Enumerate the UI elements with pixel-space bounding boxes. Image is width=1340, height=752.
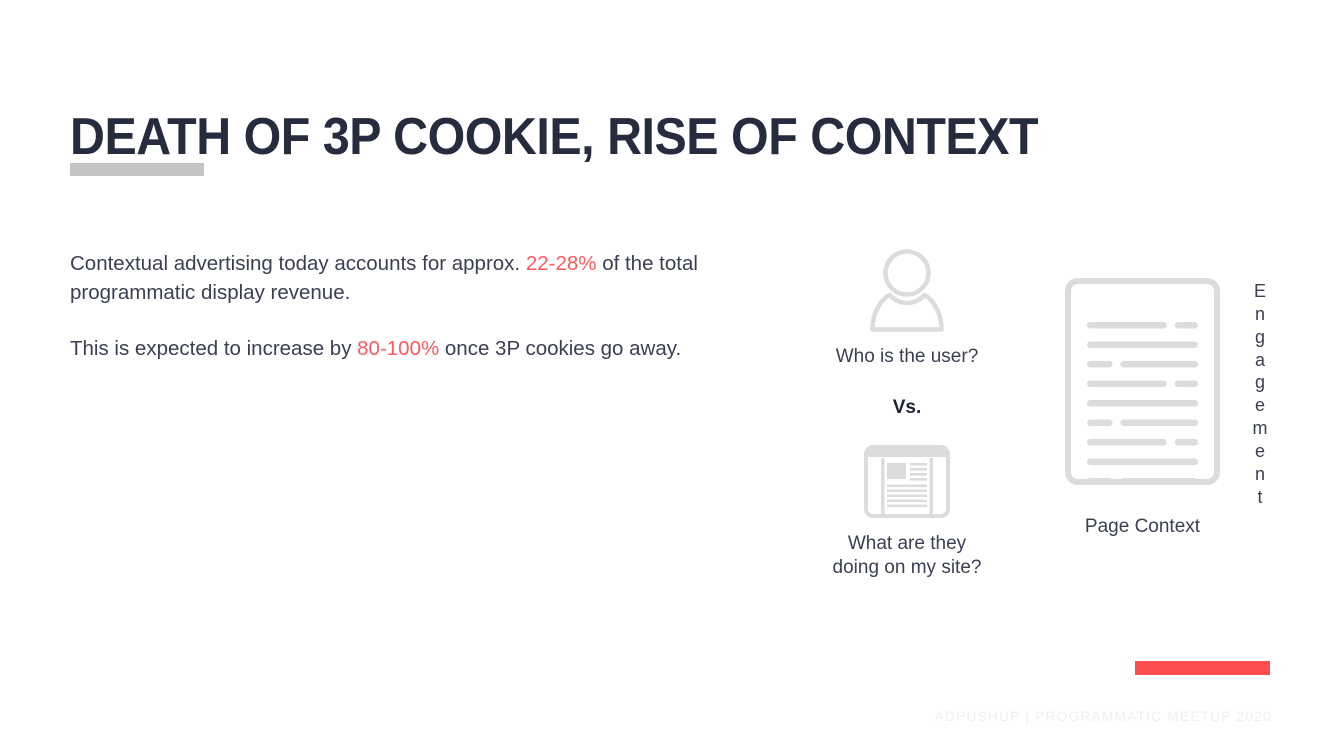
engagement-letter: a xyxy=(1250,349,1270,372)
body-copy: Contextual advertising today accounts fo… xyxy=(70,249,760,363)
document-text-bar xyxy=(1087,439,1167,446)
footer-text: ADPUSHUP | PROGRAMMATIC MEETUP 2020 xyxy=(935,709,1272,724)
content-caption-line-2: doing on my site? xyxy=(806,556,1008,580)
engagement-vertical-label: Engagement xyxy=(1250,280,1270,509)
body-paragraph-2: This is expected to increase by 80-100% … xyxy=(70,334,760,363)
person-icon xyxy=(861,248,953,332)
document-text-bar xyxy=(1087,400,1198,407)
document-text-bar xyxy=(1175,439,1198,446)
document-wrapper: Page Context xyxy=(1065,278,1220,538)
slide-canvas: DEATH OF 3P COOKIE, RISE OF CONTEXT Cont… xyxy=(0,0,1340,752)
paragraph-1-highlight: 22-28% xyxy=(526,252,597,275)
vs-label: Vs. xyxy=(806,397,1008,419)
engagement-letter: E xyxy=(1250,280,1270,303)
engagement-letter: e xyxy=(1250,394,1270,417)
document-text-bar xyxy=(1120,420,1198,427)
engagement-letter: n xyxy=(1250,303,1270,326)
engagement-letter: g xyxy=(1250,326,1270,349)
document-text-bar xyxy=(1120,361,1198,368)
engagement-letter: g xyxy=(1250,371,1270,394)
person-caption: Who is the user? xyxy=(806,345,1008,369)
document-text-bar xyxy=(1087,381,1167,388)
page-title: DEATH OF 3P COOKIE, RISE OF CONTEXT xyxy=(70,110,1038,165)
content-caption-line-1: What are they xyxy=(806,532,1008,556)
body-paragraph-1: Contextual advertising today accounts fo… xyxy=(70,249,760,307)
paragraph-2-text-before: This is expected to increase by xyxy=(70,337,357,360)
document-text-bar xyxy=(1087,361,1113,368)
paragraph-2-text-after: once 3P cookies go away. xyxy=(439,337,681,360)
document-text-bar xyxy=(1087,342,1198,349)
document-text-lines xyxy=(1087,322,1198,485)
newspaper-icon xyxy=(864,445,950,518)
engagement-letter: e xyxy=(1250,440,1270,463)
document-text-bar xyxy=(1175,322,1198,329)
engagement-letter: m xyxy=(1250,417,1270,440)
paragraph-spacer xyxy=(70,307,760,334)
document-text-bar xyxy=(1175,381,1198,388)
title-underline-bar xyxy=(70,163,204,176)
document-text-bar xyxy=(1087,420,1113,427)
accent-bar xyxy=(1135,661,1270,675)
paragraph-1-text-before: Contextual advertising today accounts fo… xyxy=(70,252,526,275)
title-block: DEATH OF 3P COOKIE, RISE OF CONTEXT xyxy=(70,110,1111,165)
engagement-letter: n xyxy=(1250,463,1270,486)
comparison-column: Who is the user? Vs. What are the xyxy=(806,248,1008,579)
engagement-letter: t xyxy=(1250,486,1270,509)
newspaper-icon-wrapper xyxy=(806,445,1008,518)
page-context-caption: Page Context xyxy=(1065,516,1220,538)
page-context-column: Page Context Engagement xyxy=(1065,278,1270,538)
document-page-icon xyxy=(1065,278,1220,485)
content-caption: What are they doing on my site? xyxy=(806,532,1008,580)
document-text-bar xyxy=(1087,459,1198,466)
document-text-bar xyxy=(1087,322,1167,329)
document-text-bar xyxy=(1087,478,1113,485)
paragraph-2-highlight: 80-100% xyxy=(357,337,439,360)
document-text-bar xyxy=(1120,478,1198,485)
person-icon-wrapper xyxy=(806,248,1008,332)
